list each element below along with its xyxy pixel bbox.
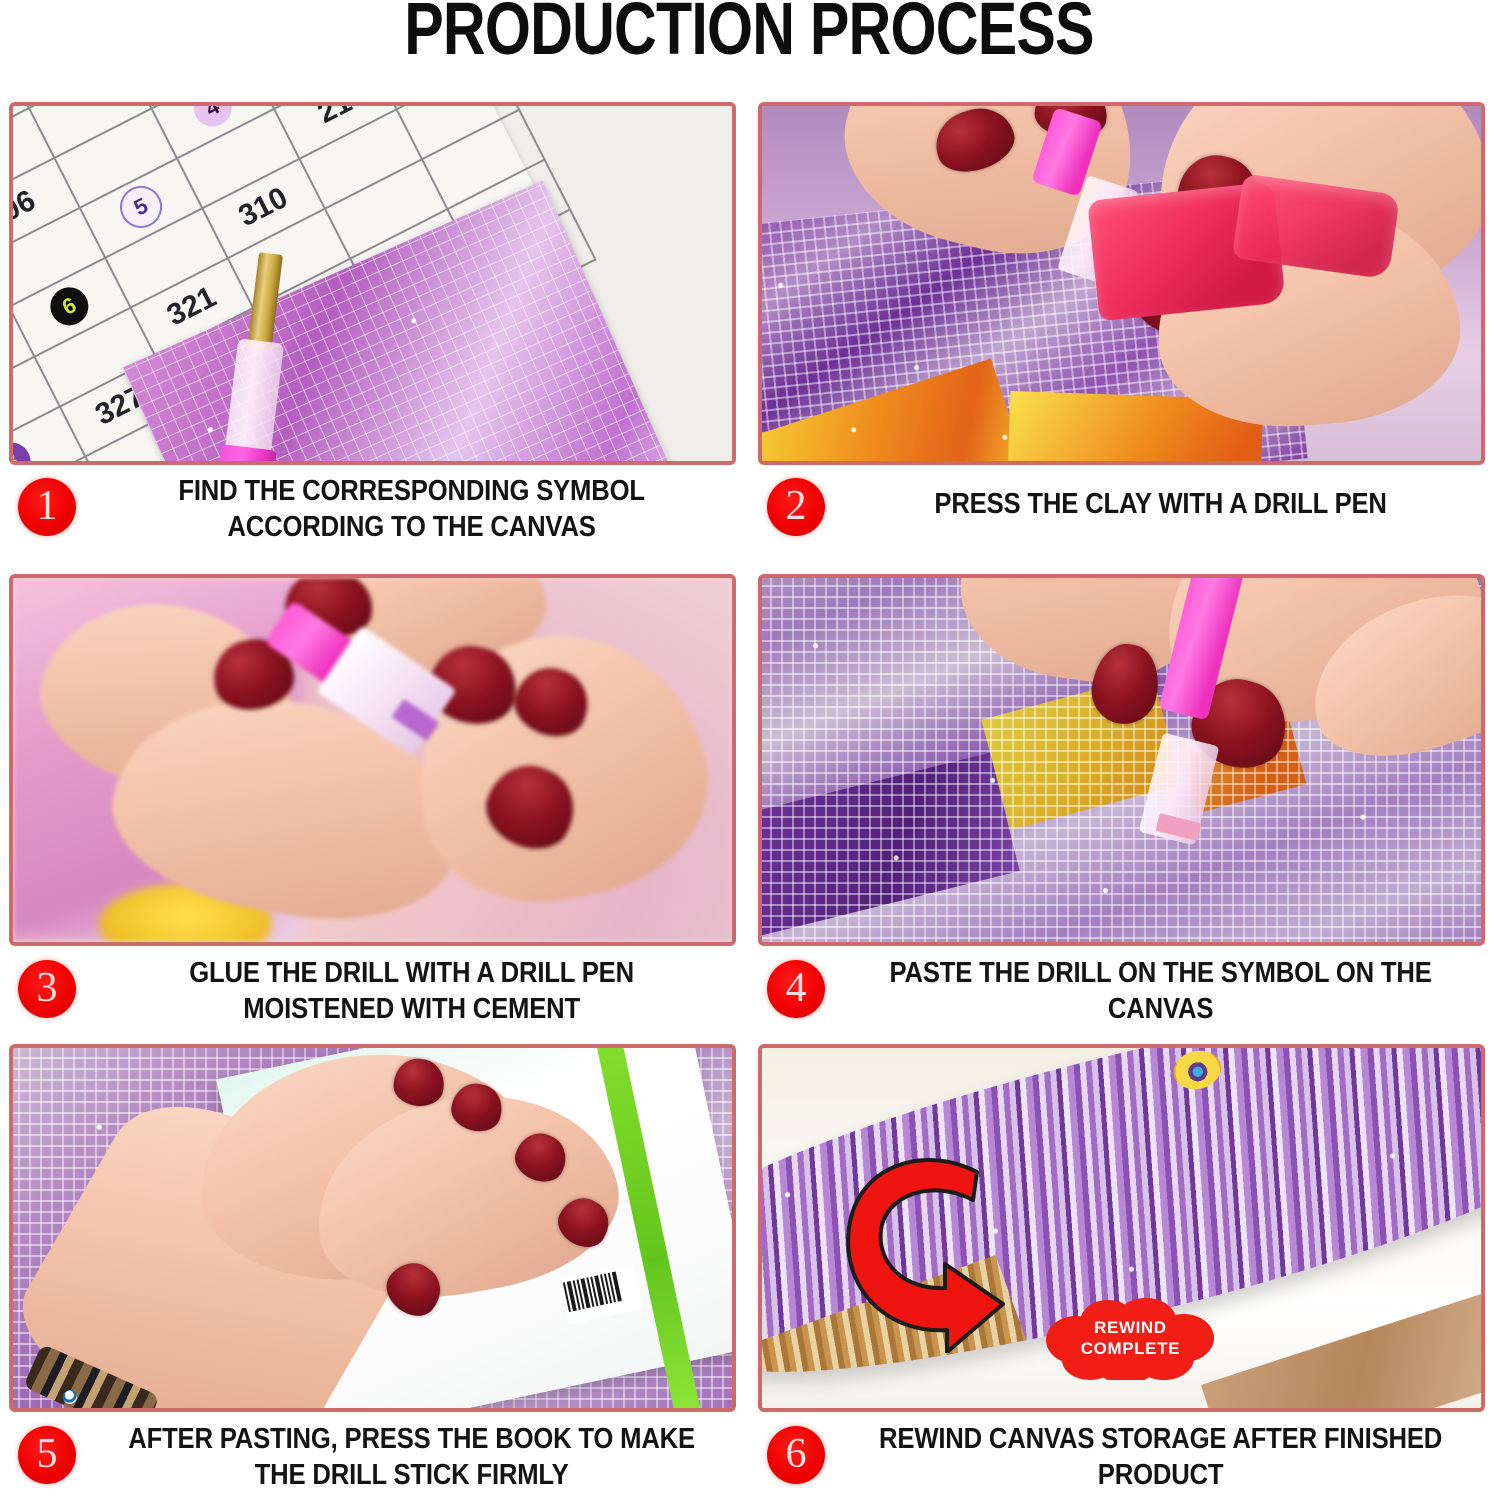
rewind-arrow-icon [827, 1138, 1037, 1353]
badge-line-2: COMPLETE [1081, 1338, 1180, 1359]
step-caption-6: 6 REWIND CANVAS STORAGE AFTER FINISHED P… [749, 1422, 1498, 1494]
step-caption-text: PRESS THE CLAY WITH A DRILL PEN [859, 474, 1465, 523]
photo-paste-drill [762, 578, 1481, 942]
step-number-badge: 2 [767, 478, 825, 536]
photo-press-book [13, 1048, 732, 1408]
step-photo-frame-2 [758, 102, 1485, 465]
photo-color-chart: 04 2 154 颜色 05 3 208 [13, 106, 732, 461]
step-number-badge: 6 [767, 1426, 825, 1484]
step-caption-1: 1 FIND THE CORRESPONDING SYMBOL ACCORDIN… [0, 474, 749, 546]
step-cell-5: 5 AFTER PASTING, PRESS THE BOOK TO MAKE … [0, 1038, 749, 1500]
steps-grid: 04 2 154 颜色 05 3 208 [0, 96, 1498, 1500]
step-number-badge: 4 [767, 960, 825, 1018]
step-caption-text: AFTER PASTING, PRESS THE BOOK TO MAKE TH… [110, 1422, 716, 1494]
badge-line-1: REWIND [1094, 1317, 1167, 1338]
step-caption-5: 5 AFTER PASTING, PRESS THE BOOK TO MAKE … [0, 1422, 749, 1494]
step-caption-text: PASTE THE DRILL ON THE SYMBOL ON THE CAN… [859, 956, 1465, 1028]
step-number-badge: 5 [18, 1426, 76, 1484]
page-title: PRODUCTION PROCESS [150, 0, 1348, 68]
step-caption-text: FIND THE CORRESPONDING SYMBOL ACCORDING … [110, 474, 716, 546]
step-number-badge: 1 [18, 478, 76, 536]
step-photo-frame-5 [9, 1044, 736, 1412]
step-photo-frame-1: 04 2 154 颜色 05 3 208 [9, 102, 736, 465]
step-photo-frame-4 [758, 574, 1485, 946]
step-photo-frame-3 [9, 574, 736, 946]
step-cell-6: REWIND COMPLETE 6 REWIND CANVAS STORAGE … [749, 1038, 1498, 1500]
photo-glue-drill [13, 578, 732, 942]
step-cell-1: 04 2 154 颜色 05 3 208 [0, 96, 749, 568]
step-number-badge: 3 [18, 960, 76, 1018]
step-photo-frame-6: REWIND COMPLETE [758, 1044, 1485, 1412]
step-caption-3: 3 GLUE THE DRILL WITH A DRILL PEN MOISTE… [0, 956, 749, 1028]
step-cell-2: 2 PRESS THE CLAY WITH A DRILL PEN [749, 96, 1498, 568]
step-cell-3: 3 GLUE THE DRILL WITH A DRILL PEN MOISTE… [0, 568, 749, 1038]
rewind-complete-badge: REWIND COMPLETE [1042, 1296, 1218, 1380]
step-caption-4: 4 PASTE THE DRILL ON THE SYMBOL ON THE C… [749, 956, 1498, 1028]
step-caption-text: REWIND CANVAS STORAGE AFTER FINISHED PRO… [859, 1422, 1465, 1494]
photo-rewind-canvas: REWIND COMPLETE [762, 1048, 1481, 1408]
photo-press-clay [762, 106, 1481, 461]
step-cell-4: 4 PASTE THE DRILL ON THE SYMBOL ON THE C… [749, 568, 1498, 1038]
step-caption-2: 2 PRESS THE CLAY WITH A DRILL PEN [749, 474, 1498, 536]
step-caption-text: GLUE THE DRILL WITH A DRILL PEN MOISTENE… [110, 956, 716, 1028]
